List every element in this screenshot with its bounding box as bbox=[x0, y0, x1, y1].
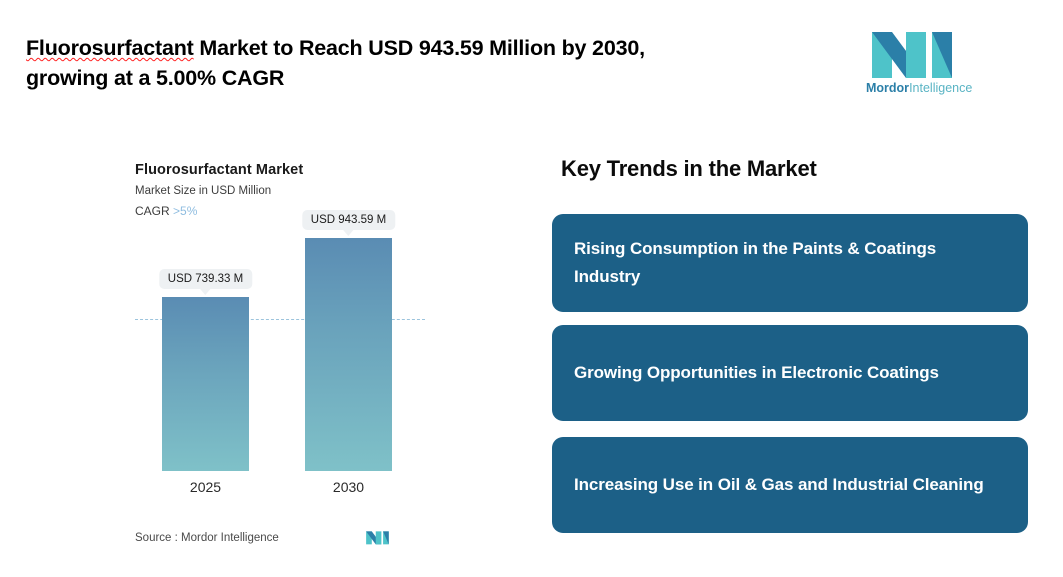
trend-card-label: Increasing Use in Oil & Gas and Industri… bbox=[574, 471, 984, 499]
bar-2025[interactable] bbox=[162, 297, 249, 471]
chart-footer: Source : Mordor Intelligence bbox=[120, 528, 440, 552]
mordor-m-icon-small bbox=[365, 528, 391, 546]
page-title: Fluorosurfactant Market to Reach USD 943… bbox=[26, 33, 796, 93]
trend-card[interactable]: Increasing Use in Oil & Gas and Industri… bbox=[552, 437, 1028, 533]
trend-card[interactable]: Growing Opportunities in Electronic Coat… bbox=[552, 325, 1028, 421]
chart-source-label: Source : Mordor Intelligence bbox=[135, 532, 279, 544]
chart-cagr-value: >5% bbox=[173, 204, 197, 218]
trend-card-label: Rising Consumption in the Paints & Coati… bbox=[574, 235, 1006, 291]
logo-wordmark: MordorIntelligence bbox=[866, 81, 962, 95]
bar-chart-plot: USD 739.33 M 2025 USD 943.59 M 2030 bbox=[120, 235, 440, 495]
key-trends-panel: Key Trends in the Market Rising Consumpt… bbox=[552, 150, 1028, 540]
page-title-line2: growing at a 5.00% CAGR bbox=[26, 66, 284, 90]
x-axis-tick-2025: 2025 bbox=[162, 479, 249, 495]
bar-value-label-2030: USD 943.59 M bbox=[302, 210, 395, 230]
key-trends-heading: Key Trends in the Market bbox=[561, 156, 817, 182]
trend-card[interactable]: Rising Consumption in the Paints & Coati… bbox=[552, 214, 1028, 312]
logo-word-intelligence: Intelligence bbox=[909, 81, 972, 95]
mordor-m-icon bbox=[868, 26, 960, 78]
chart-panel: Fluorosurfactant Market Market Size in U… bbox=[120, 150, 440, 560]
page-title-line1-rest: Market to Reach USD 943.59 Million by 20… bbox=[194, 36, 645, 60]
logo-word-mordor: Mordor bbox=[866, 81, 909, 95]
x-axis-tick-2030: 2030 bbox=[305, 479, 392, 495]
chart-cagr: CAGR >5% bbox=[135, 204, 197, 218]
page-title-misspelled-word: Fluorosurfactant bbox=[26, 36, 194, 60]
chart-subtitle: Market Size in USD Million bbox=[135, 185, 271, 197]
brand-logo: MordorIntelligence bbox=[866, 26, 962, 100]
page-header: Fluorosurfactant Market to Reach USD 943… bbox=[0, 0, 1063, 120]
bar-value-label-2025: USD 739.33 M bbox=[159, 269, 252, 289]
chart-title: Fluorosurfactant Market bbox=[135, 162, 303, 178]
bar-2030[interactable] bbox=[305, 238, 392, 471]
trend-card-label: Growing Opportunities in Electronic Coat… bbox=[574, 359, 939, 387]
infographic-page: Fluorosurfactant Market to Reach USD 943… bbox=[0, 0, 1063, 577]
chart-cagr-label: CAGR bbox=[135, 204, 173, 218]
